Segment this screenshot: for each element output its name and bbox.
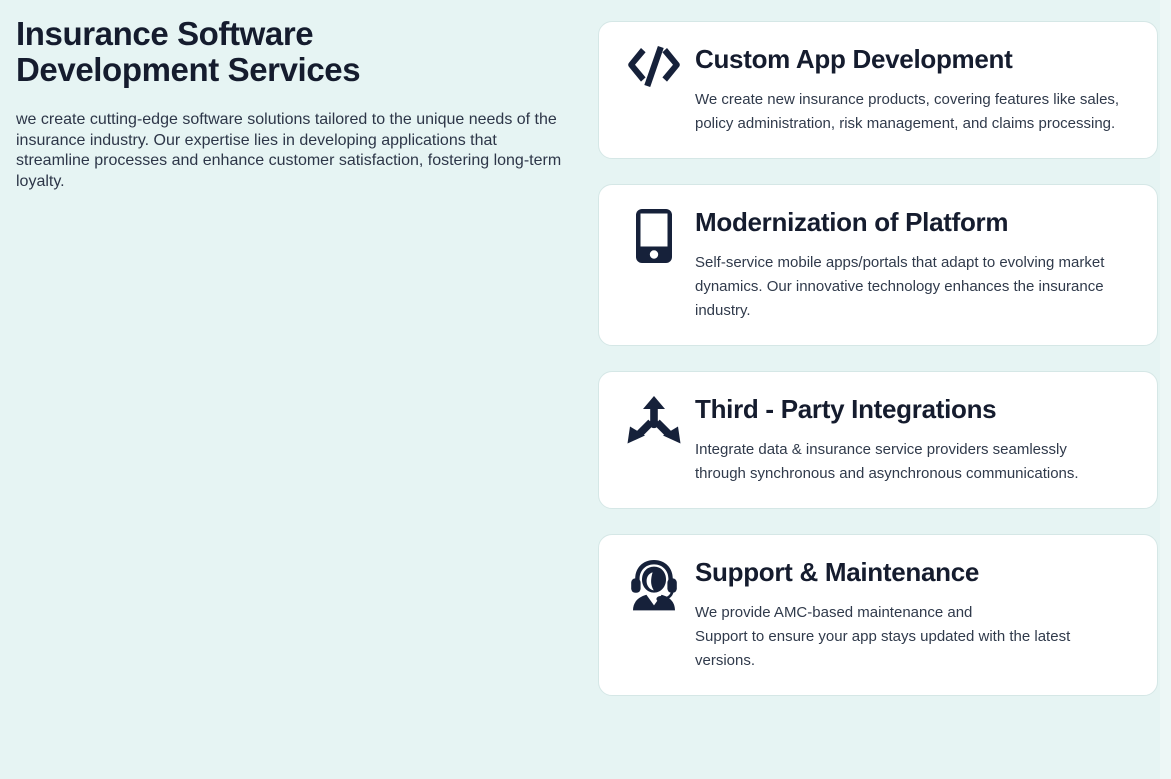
headset-support-agent-icon — [621, 557, 687, 621]
card-body: Custom App Development We create new ins… — [687, 44, 1133, 136]
code-brackets-icon — [621, 44, 687, 108]
intro-paragraph: we create cutting-edge software solution… — [16, 88, 572, 192]
mobile-phone-icon — [621, 207, 687, 271]
card-title: Support & Maintenance — [695, 557, 1133, 587]
page-root: Insurance Software Development Services … — [0, 0, 1171, 779]
branching-arrows-icon — [621, 394, 687, 458]
card-title: Custom App Development — [695, 44, 1133, 74]
card-title: Third - Party Integrations — [695, 394, 1133, 424]
card-body: Support & Maintenance We provide AMC-bas… — [687, 557, 1133, 673]
card-description: Integrate data & insurance service provi… — [695, 424, 1095, 486]
service-card-third-party-integrations[interactable]: Third - Party Integrations Integrate dat… — [598, 371, 1158, 509]
services-card-list: Custom App Development We create new ins… — [598, 21, 1158, 696]
card-title: Modernization of Platform — [695, 207, 1133, 237]
service-card-support-and-maintenance[interactable]: Support & Maintenance We provide AMC-bas… — [598, 534, 1158, 696]
service-card-custom-app-development[interactable]: Custom App Development We create new ins… — [598, 21, 1158, 159]
card-body: Modernization of Platform Self-service m… — [687, 207, 1133, 323]
service-card-modernization-of-platform[interactable]: Modernization of Platform Self-service m… — [598, 184, 1158, 346]
intro-section: Insurance Software Development Services … — [16, 16, 576, 192]
page-right-gutter — [1160, 0, 1171, 779]
card-body: Third - Party Integrations Integrate dat… — [687, 394, 1133, 486]
card-description: We create new insurance products, coveri… — [695, 74, 1131, 136]
card-description: We provide AMC-based maintenance and Sup… — [695, 587, 1125, 673]
card-description: Self-service mobile apps/portals that ad… — [695, 237, 1113, 323]
page-title: Insurance Software Development Services — [16, 16, 576, 88]
